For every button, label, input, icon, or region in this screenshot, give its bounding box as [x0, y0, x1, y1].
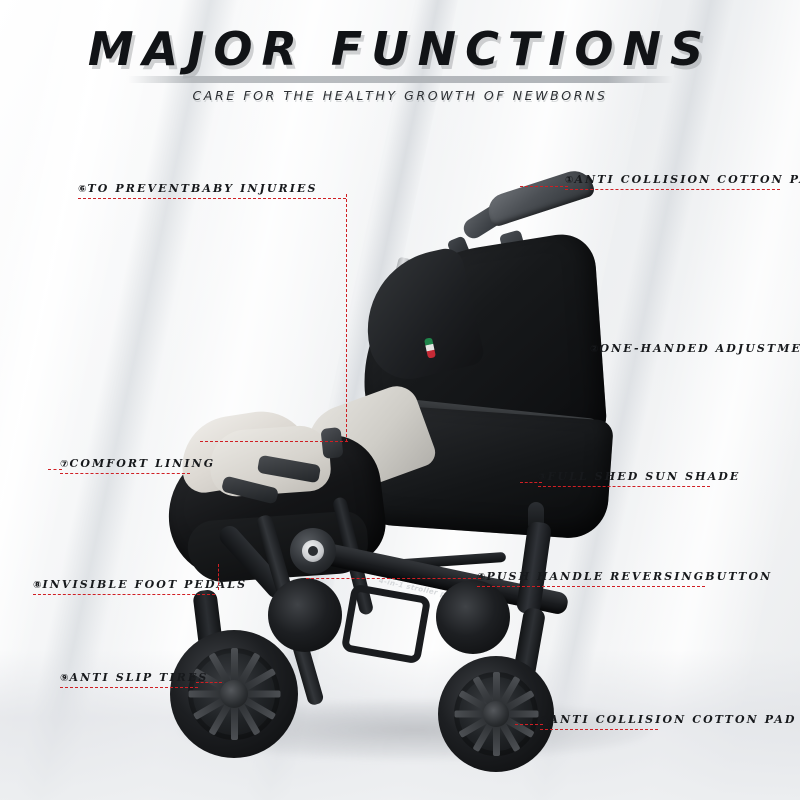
- header: MAJOR FUNCTIONS CARE FOR THE HEALTHY GRO…: [0, 0, 800, 125]
- callout-6-underline: [78, 198, 346, 199]
- front-wheel: [438, 656, 554, 772]
- reversing-button-center: [308, 546, 318, 556]
- callout-1-number: ①: [565, 175, 573, 186]
- connector-1: [520, 186, 568, 187]
- wheel-hub: [220, 680, 248, 708]
- connector-6-horizontal: [200, 441, 348, 442]
- callout-3-underline: [538, 486, 710, 487]
- wheel-mid: [268, 578, 342, 652]
- callout-1[interactable]: ①ANTI COLLISION COTTON PAD: [565, 168, 800, 190]
- page-subtitle: CARE FOR THE HEALTHY GROWTH OF NEWBORNS: [0, 88, 800, 103]
- callout-6-text: ⑥TO PREVENTBABY INJURIES: [78, 182, 318, 197]
- harness-buckle: [320, 427, 343, 459]
- infographic-canvas: MAJOR FUNCTIONS CARE FOR THE HEALTHY GRO…: [0, 0, 800, 800]
- callout-6[interactable]: ⑥TO PREVENTBABY INJURIES: [78, 177, 346, 199]
- callout-8-underline: [33, 594, 215, 595]
- connector-9: [196, 682, 222, 683]
- callout-9-text: ⑨ANTI SLIP TIRES: [60, 671, 208, 686]
- callout-9-number: ⑨: [60, 673, 68, 684]
- callout-7-underline: [60, 473, 190, 474]
- callout-1-underline: [565, 189, 780, 190]
- page-title: MAJOR FUNCTIONS: [0, 22, 800, 76]
- callout-2-text: ②ONE-HANDED ADJUSTMENT: [590, 342, 800, 357]
- callout-9-underline: [60, 687, 198, 688]
- callout-5-underline: [540, 729, 658, 730]
- callout-9[interactable]: ⑨ANTI SLIP TIRES: [60, 666, 208, 688]
- connector-6-vertical: [346, 194, 347, 442]
- callout-8-text: ⑧INVISIBLE FOOT PEDALS: [33, 578, 247, 593]
- connector-5: [515, 724, 543, 725]
- wheel-hub: [483, 701, 509, 727]
- wheel-mid: [436, 580, 510, 654]
- callout-7[interactable]: ⑦COMFORT LINING: [60, 452, 215, 474]
- callout-4[interactable]: ④PUSH HANDLE REVERSINGBUTTON: [477, 565, 772, 587]
- callout-8[interactable]: ⑧INVISIBLE FOOT PEDALS: [33, 573, 247, 595]
- callout-2-number: ②: [590, 344, 598, 355]
- callout-3-text: ③FULL SHED SUN SHADE: [538, 470, 740, 485]
- connector-4: [306, 578, 481, 579]
- callout-5[interactable]: ⑤ANTI COLLISION COTTON PAD: [540, 708, 797, 730]
- callout-3[interactable]: ③FULL SHED SUN SHADE: [538, 465, 740, 487]
- callout-6-number: ⑥: [78, 184, 86, 195]
- connector-3: [520, 482, 542, 483]
- connector-8-tick: [218, 564, 219, 590]
- callout-4-text: ④PUSH HANDLE REVERSINGBUTTON: [477, 570, 772, 585]
- callout-4-underline: [477, 586, 705, 587]
- callout-1-text: ①ANTI COLLISION COTTON PAD: [565, 173, 800, 188]
- callout-8-number: ⑧: [33, 580, 41, 591]
- callout-2[interactable]: ②ONE-HANDED ADJUSTMENT: [590, 337, 800, 357]
- rear-wheel: [170, 630, 298, 758]
- connector-7: [48, 469, 62, 470]
- title-underline-bar: [128, 76, 673, 83]
- foot-pedal: [341, 584, 432, 665]
- callout-5-text: ⑤ANTI COLLISION COTTON PAD: [540, 713, 797, 728]
- callout-7-text: ⑦COMFORT LINING: [60, 457, 215, 472]
